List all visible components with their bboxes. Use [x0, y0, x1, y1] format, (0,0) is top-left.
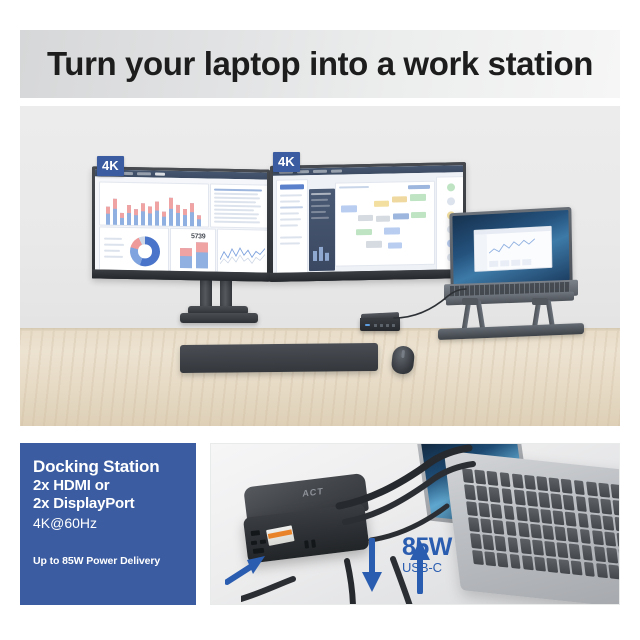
- calendar-tab: [331, 169, 342, 172]
- act-brand-logo: ACT: [302, 486, 324, 499]
- hero-photo: 5739: [20, 106, 620, 426]
- monitor-right: [270, 162, 466, 282]
- kpi-value: 5739: [191, 233, 205, 240]
- chart-bar: [127, 205, 131, 225]
- calendar-action-button[interactable]: [408, 185, 430, 189]
- chart-bar: [134, 209, 138, 225]
- bar-chart-card: [99, 181, 209, 227]
- nav-row: [280, 212, 299, 214]
- calendar-event[interactable]: [392, 196, 407, 202]
- panel-row: [311, 217, 329, 219]
- rail-icon: [447, 197, 455, 205]
- line-chart-card: [217, 229, 267, 273]
- dock-led: [365, 324, 370, 326]
- feature-panel-line3: 2x DisplayPort: [33, 495, 184, 513]
- nav-row: [280, 194, 302, 196]
- calendar-event[interactable]: [411, 212, 426, 218]
- chart-bar: [183, 209, 187, 226]
- list-row: [214, 201, 256, 203]
- rail-icon: [447, 183, 455, 191]
- calendar-event[interactable]: [410, 194, 426, 201]
- badge-4k-left: 4K: [97, 156, 124, 176]
- dock-port: [374, 324, 377, 327]
- donut-chart: [130, 236, 160, 267]
- line-chart-svg: [220, 242, 265, 269]
- kpi-card: 5739: [170, 228, 216, 273]
- calendar-body: [273, 172, 463, 273]
- calendar-tab: [313, 170, 327, 173]
- calendar-sidebar: [276, 179, 308, 273]
- panel-row: [311, 193, 331, 195]
- nav-row: [280, 218, 301, 220]
- new-button[interactable]: [280, 184, 304, 189]
- nav-row: [280, 200, 300, 202]
- calendar-event[interactable]: [366, 241, 382, 248]
- laptop: [449, 207, 572, 289]
- window-tile: [500, 260, 509, 266]
- feature-panel: Docking Station 2x HDMI or 2x DisplayPor…: [20, 443, 196, 605]
- legend-row: [104, 238, 122, 240]
- calendar-event[interactable]: [374, 201, 389, 207]
- panel-row: [311, 205, 330, 207]
- calendar-title: [339, 186, 369, 188]
- list-row: [214, 205, 261, 207]
- chart-bar: [148, 206, 152, 225]
- keyboard-keys: [184, 346, 374, 369]
- chart-bar: [169, 198, 173, 226]
- donut-card: [99, 226, 169, 272]
- stand-base: [180, 313, 258, 323]
- calendar-event[interactable]: [388, 242, 402, 248]
- nav-row-active: [280, 206, 303, 208]
- dark-side-panel: [309, 189, 335, 271]
- window-tile: [522, 259, 531, 265]
- window-sidebar: [475, 235, 488, 271]
- calendar-event[interactable]: [376, 216, 390, 222]
- laptop-screen: [452, 210, 569, 286]
- kpi-bar: [180, 248, 192, 268]
- nav-row: [280, 242, 300, 244]
- nav-row: [280, 224, 298, 226]
- panel-row: [311, 199, 328, 201]
- calendar-event[interactable]: [341, 205, 357, 212]
- chart-bar: [106, 207, 110, 225]
- dock-hdmi-port: [251, 530, 261, 536]
- badge-4k-right: 4K: [273, 152, 300, 172]
- nav-row: [280, 236, 302, 238]
- riser-clip: [532, 298, 548, 305]
- calendar-ui: [273, 165, 463, 273]
- list-panel-card: [210, 184, 267, 229]
- dock-port: [386, 324, 389, 327]
- feature-panel-footer: Up to 85W Power Delivery: [33, 555, 184, 567]
- laptop-lid: [449, 207, 572, 289]
- marketing-image: Turn your laptop into a work station: [0, 0, 640, 640]
- list-row: [214, 221, 260, 223]
- legend-row: [104, 250, 120, 252]
- chart-bar: [190, 203, 194, 226]
- chart-bar: [176, 205, 180, 226]
- page-title: Turn your laptop into a work station: [20, 30, 620, 98]
- chart-bar: [120, 213, 124, 225]
- legend-row: [104, 244, 124, 246]
- panel-bar: [325, 253, 329, 261]
- window-line-chart: [489, 235, 535, 259]
- panel-row: [311, 211, 326, 213]
- power-callout: 85W USB-C: [402, 535, 452, 576]
- calendar-event[interactable]: [384, 227, 400, 234]
- calendar-event[interactable]: [356, 229, 372, 235]
- chart-bar: [155, 202, 159, 226]
- list-row: [214, 193, 258, 195]
- panel-bar: [313, 251, 317, 261]
- window-tile: [511, 259, 520, 265]
- feature-panel-line4: 4K@60Hz: [33, 514, 184, 532]
- dashboard-body: 5739: [95, 176, 267, 272]
- monitor-left-screen: 5739: [95, 169, 267, 272]
- keyboard[interactable]: [180, 343, 378, 373]
- calendar-event[interactable]: [358, 215, 373, 221]
- chart-bar: [113, 199, 117, 225]
- arrow-down-icon: [359, 538, 385, 596]
- list-row: [214, 209, 254, 211]
- power-type: USB-C: [402, 561, 452, 576]
- dashboard-tab: [137, 172, 151, 175]
- calendar-grid: [335, 181, 435, 267]
- chart-bar: [162, 212, 166, 226]
- laptop-window: [474, 226, 553, 271]
- chart-bar: [197, 215, 201, 226]
- window-tile: [489, 260, 498, 266]
- monitor-right-screen: [273, 165, 463, 273]
- list-row: [214, 213, 259, 215]
- product-photo: ACT: [210, 443, 620, 605]
- kpi-bar: [196, 242, 208, 268]
- list-row: [214, 189, 262, 191]
- power-value: 85W: [402, 535, 452, 560]
- monitor-left: 5739: [92, 166, 270, 281]
- chart-bar: [141, 203, 145, 225]
- panel-bar: [319, 247, 323, 261]
- dock-cable: [392, 288, 472, 326]
- legend-row: [104, 256, 123, 258]
- list-row: [214, 197, 260, 199]
- arrow-up-right-icon: [225, 548, 273, 588]
- dashboard-ui: 5739: [95, 169, 267, 272]
- dashboard-tab-active: [155, 173, 165, 176]
- list-row: [214, 217, 257, 219]
- feature-panel-title: Docking Station: [33, 457, 184, 476]
- dock-port: [380, 324, 383, 327]
- feature-panel-line2: 2x HDMI or: [33, 477, 184, 495]
- calendar-event[interactable]: [393, 213, 409, 219]
